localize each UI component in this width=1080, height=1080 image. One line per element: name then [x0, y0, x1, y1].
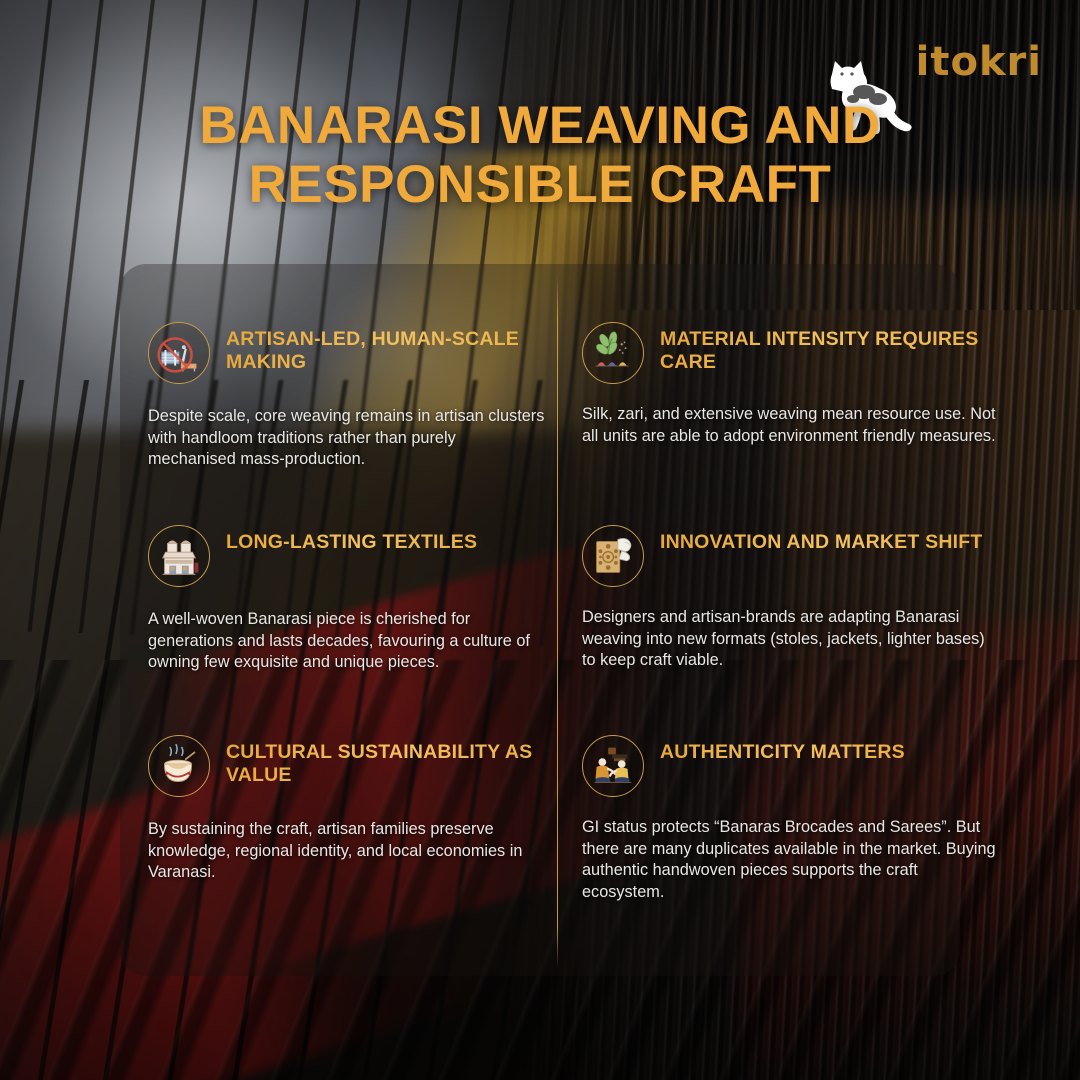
card-header: CULTURAL SUSTAINABILITY AS VALUE	[148, 735, 548, 797]
card-body: Despite scale, core weaving remains in a…	[148, 406, 548, 471]
card-body: GI status protects “Banaras Brocades and…	[582, 817, 1002, 904]
card-header: MATERIAL INTENSITY REQUIRES CARE	[582, 322, 1002, 384]
card-cultural-sustainability: CULTURAL SUSTAINABILITY AS VALUE By sust…	[148, 735, 548, 884]
card-material-intensity: MATERIAL INTENSITY REQUIRES CARE Silk, z…	[582, 322, 1002, 447]
card-title: CULTURAL SUSTAINABILITY AS VALUE	[226, 741, 548, 788]
card-body: Silk, zari, and extensive weaving mean r…	[582, 404, 1002, 447]
card-header: INNOVATION AND MARKET SHIFT	[582, 525, 1002, 587]
brand-logo-text: itokri	[916, 39, 1042, 85]
no-power-loom-icon	[148, 322, 210, 384]
card-innovation-market-shift: INNOVATION AND MARKET SHIFT Designers an…	[582, 525, 1002, 672]
infographic-poster: itokri BANARASI WEAVING AND RESPONSIBLE …	[0, 0, 1080, 1080]
craft-shop-building-icon	[148, 525, 210, 587]
page-title-line-1: BANARASI WEAVING AND	[199, 96, 880, 155]
card-body: A well-woven Banarasi piece is cherished…	[148, 609, 548, 674]
brand-logo[interactable]: itokri	[916, 42, 1042, 82]
card-title: INNOVATION AND MARKET SHIFT	[660, 531, 982, 554]
card-header: ARTISAN-LED, HUMAN-SCALE MAKING	[148, 322, 548, 384]
card-header: LONG-LASTING TEXTILES	[148, 525, 548, 587]
card-artisan-led: ARTISAN-LED, HUMAN-SCALE MAKING Despite …	[148, 322, 548, 471]
two-artisans-weaving-icon	[582, 735, 644, 797]
hand-holding-fabric-swatch-icon	[582, 525, 644, 587]
card-title: ARTISAN-LED, HUMAN-SCALE MAKING	[226, 328, 548, 375]
card-body: Designers and artisan-brands are adaptin…	[582, 607, 1002, 672]
steaming-dye-pot-icon	[148, 735, 210, 797]
card-body: By sustaining the craft, artisan familie…	[148, 819, 548, 884]
card-title: AUTHENTICITY MATTERS	[660, 741, 905, 764]
natural-dye-leaves-icon	[582, 322, 644, 384]
page-title: BANARASI WEAVING AND RESPONSIBLE CRAFT	[0, 96, 1080, 215]
card-long-lasting-textiles: LONG-LASTING TEXTILES A well-woven Banar…	[148, 525, 548, 674]
card-header: AUTHENTICITY MATTERS	[582, 735, 1002, 797]
card-authenticity-matters: AUTHENTICITY MATTERS GI status protects …	[582, 735, 1002, 904]
card-title: MATERIAL INTENSITY REQUIRES CARE	[660, 328, 1002, 375]
page-title-line-2: RESPONSIBLE CRAFT	[249, 155, 832, 214]
column-divider	[557, 276, 558, 968]
card-title: LONG-LASTING TEXTILES	[226, 531, 477, 554]
